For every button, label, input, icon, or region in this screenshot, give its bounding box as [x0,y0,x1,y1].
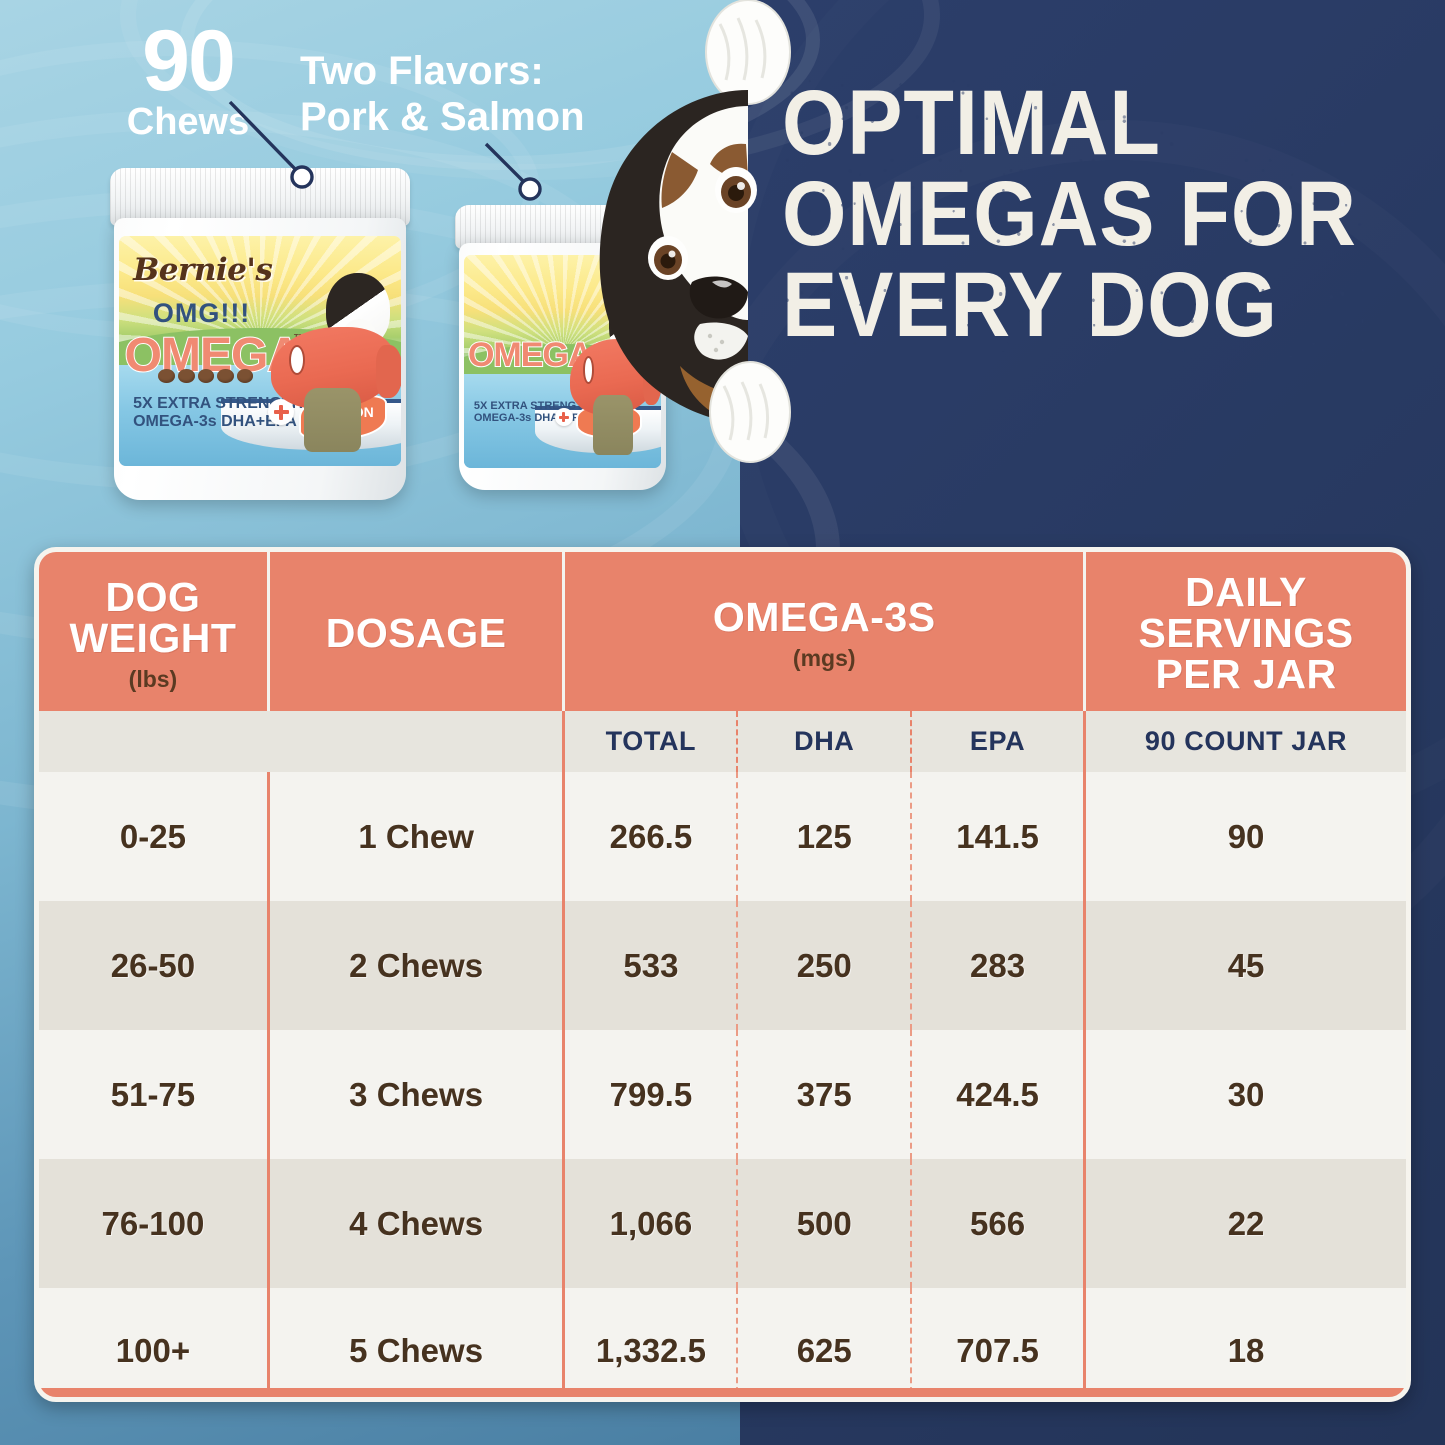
header-dog-weight-unit: (lbs) [45,668,261,691]
chew-illustrations [158,369,253,383]
cell-total: 266.5 [564,772,738,901]
header-dosage-title: Dosage [326,610,507,656]
peeking-dog-illustration [560,0,820,464]
header-omega3s: Omega-3s (mgs) [564,552,1085,711]
jar-brand-name: Bernie's [133,252,272,288]
cell-dosage: 3 Chews [268,1030,564,1159]
cell-total: 1,066 [564,1159,738,1288]
subheader-blank-weight [39,711,268,772]
chews-count-number: 90 [88,22,288,101]
cell-weight: 26-50 [39,901,268,1030]
table-row: 51-75 3 Chews 799.5 375 424.5 30 [39,1030,1406,1159]
jar-omg-text: OMG!!! [153,298,250,329]
dog-paw-top [706,0,790,104]
dosage-table-container: Dog Weight (lbs) Dosage Omega-3s (mgs) D… [34,547,1411,1402]
jar-body-salmon: Bernie's OMG!!! OMEGAS TM 5X EXTRA STREN… [114,218,406,500]
cell-epa: 424.5 [911,1030,1085,1159]
chew-piece [178,369,195,383]
subheader-count-jar: 90 COUNT JAR [1085,711,1406,772]
header-dog-weight-title: Dog Weight [69,574,236,661]
callout-chews-count: 90 Chews [88,22,288,143]
table-row: 100+ 5 Chews 1,332.5 625 707.5 18 [39,1288,1406,1402]
cell-servings: 30 [1085,1030,1406,1159]
dog-paw-bottom [710,362,790,462]
fisher-dog-character [271,273,395,452]
headline-line-3: Every Dog [782,260,1358,351]
subheader-total: TOTAL [564,711,738,772]
table-row: 26-50 2 Chews 533 250 283 45 [39,901,1406,1030]
cell-servings: 45 [1085,901,1406,1030]
dog-body [304,388,361,453]
cell-total: 1,332.5 [564,1288,738,1402]
flavors-line-1: Two Flavors: [300,48,585,94]
cell-servings: 22 [1085,1159,1406,1288]
chew-piece [158,369,175,383]
headline-line-2: Omegas For [782,169,1358,260]
cell-weight: 100+ [39,1288,268,1402]
cell-dha: 125 [737,772,911,901]
table-bottom-border [39,1388,1406,1397]
chew-piece [198,369,215,383]
cell-weight: 0-25 [39,772,268,901]
fish-eye [289,345,305,375]
table-row: 0-25 1 Chew 266.5 125 141.5 90 [39,772,1406,901]
table-row: 76-100 4 Chews 1,066 500 566 22 [39,1159,1406,1288]
cell-epa: 141.5 [911,772,1085,901]
flavors-line-2: Pork & Salmon [300,94,585,140]
header-dog-weight: Dog Weight (lbs) [39,552,268,711]
table-header-row: Dog Weight (lbs) Dosage Omega-3s (mgs) D… [39,552,1406,711]
page-headline: Optimal Omegas For Every Dog [782,78,1358,351]
header-daily-servings: Daily Servings Per Jar [1085,552,1406,711]
header-omega3s-unit: (mgs) [571,647,1077,670]
cell-weight: 76-100 [39,1159,268,1288]
header-omega3s-title: Omega-3s [713,594,936,640]
callout-flavors: Two Flavors: Pork & Salmon [300,48,585,140]
headline-line-1: Optimal [782,78,1358,169]
subheader-dha: DHA [737,711,911,772]
chew-piece [237,369,254,383]
cell-dha: 375 [737,1030,911,1159]
dosage-table: Dog Weight (lbs) Dosage Omega-3s (mgs) D… [39,552,1406,1402]
cell-servings: 18 [1085,1288,1406,1402]
chew-piece [217,369,234,383]
fish-tail [376,345,401,399]
cell-servings: 90 [1085,772,1406,901]
cell-dha: 625 [737,1288,911,1402]
cell-dha: 500 [737,1159,911,1288]
cell-weight: 51-75 [39,1030,268,1159]
cell-epa: 283 [911,901,1085,1030]
cell-dosage: 4 Chews [268,1159,564,1288]
table-body: 0-25 1 Chew 266.5 125 141.5 90 26-50 2 C… [39,772,1406,1402]
cell-total: 799.5 [564,1030,738,1159]
chews-count-label: Chews [88,103,288,143]
subheader-epa: EPA [911,711,1085,772]
cell-dosage: 2 Chews [268,901,564,1030]
product-jar-salmon: Bernie's OMG!!! OMEGAS TM 5X EXTRA STREN… [110,168,410,500]
cell-total: 533 [564,901,738,1030]
subheader-blank-dosage [268,711,564,772]
jar-label-salmon: Bernie's OMG!!! OMEGAS TM 5X EXTRA STREN… [119,236,401,466]
cell-epa: 566 [911,1159,1085,1288]
table-subheader-row: TOTAL DHA EPA 90 COUNT JAR [39,711,1406,772]
header-dosage: Dosage [268,552,564,711]
cell-epa: 707.5 [911,1288,1085,1402]
header-daily-servings-title: Daily Servings Per Jar [1138,569,1353,697]
cell-dha: 250 [737,901,911,1030]
cell-dosage: 1 Chew [268,772,564,901]
cell-dosage: 5 Chews [268,1288,564,1402]
